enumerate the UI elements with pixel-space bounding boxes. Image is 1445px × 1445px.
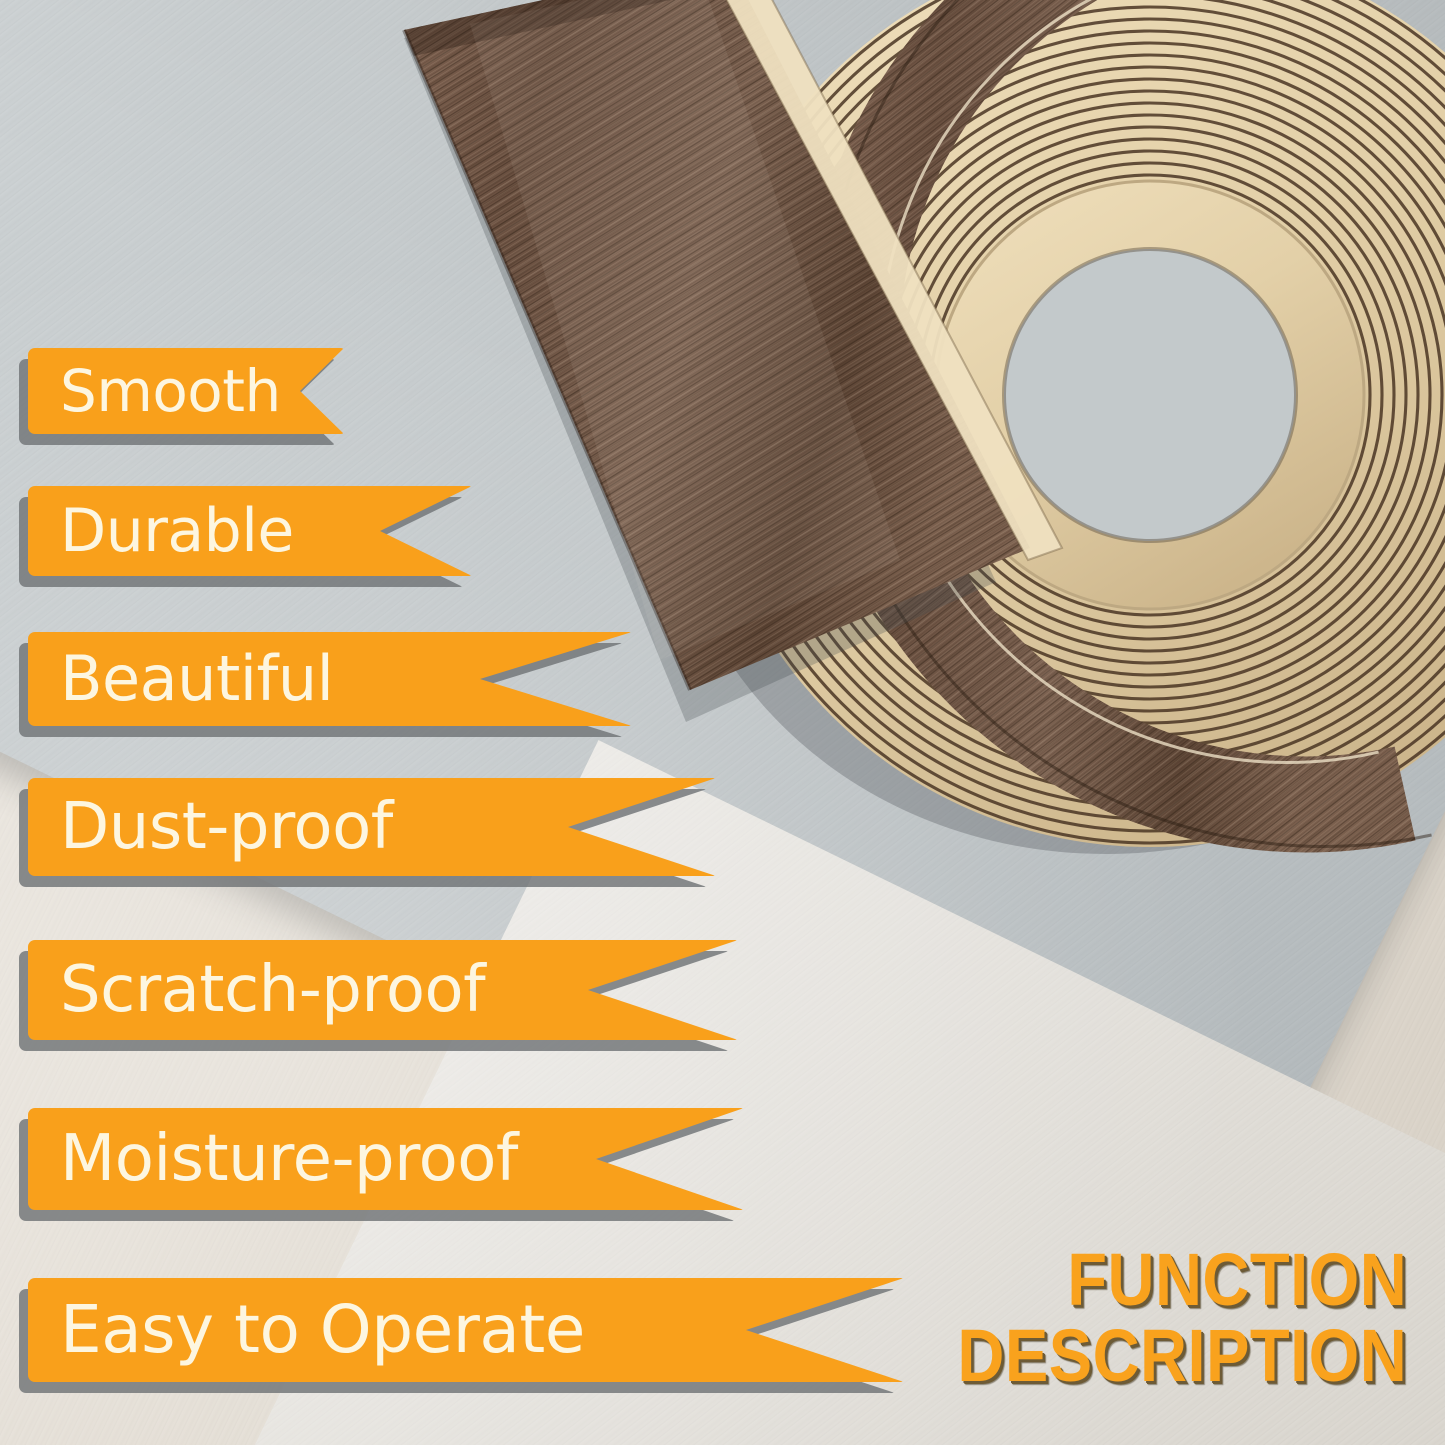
feature-banner[interactable]: Moisture-proof xyxy=(28,1108,744,1210)
feature-banner-label: Scratch-proof xyxy=(60,958,485,1022)
feature-banner[interactable]: Dust-proof xyxy=(28,778,716,876)
feature-banner-list: SmoothDurableBeautifulDust-proofScratch-… xyxy=(0,0,1445,1445)
product-feature-infographic: SmoothDurableBeautifulDust-proofScratch-… xyxy=(0,0,1445,1445)
feature-banner-label: Dust-proof xyxy=(60,795,393,859)
feature-banner[interactable]: Scratch-proof xyxy=(28,940,738,1040)
feature-banner-label: Moisture-proof xyxy=(60,1127,518,1191)
feature-banner-label: Beautiful xyxy=(60,648,333,710)
title-line-function: FUNCTION xyxy=(957,1244,1407,1317)
feature-banner[interactable]: Easy to Operate xyxy=(28,1278,904,1382)
feature-banner-label: Durable xyxy=(60,501,294,561)
page-title: FUNCTION DESCRIPTION xyxy=(896,1244,1407,1393)
feature-banner[interactable]: Beautiful xyxy=(28,632,632,726)
feature-banner[interactable]: Durable xyxy=(28,486,472,576)
feature-banner-label: Smooth xyxy=(60,362,281,420)
title-line-description: DESCRIPTION xyxy=(957,1320,1407,1393)
feature-banner[interactable]: Smooth xyxy=(28,348,344,434)
feature-banner-label: Easy to Operate xyxy=(60,1297,585,1363)
